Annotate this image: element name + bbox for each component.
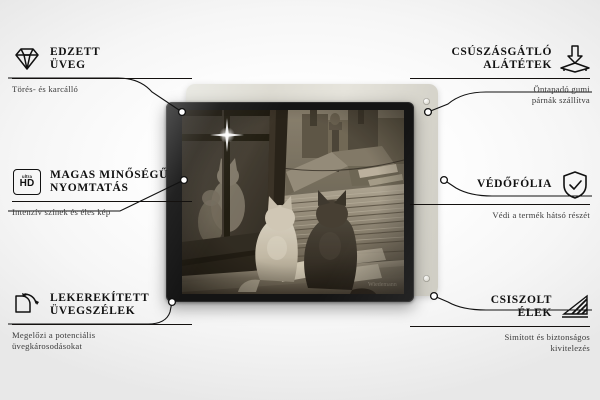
product-image: Wiedemann xyxy=(166,88,434,308)
rounded-corner-icon xyxy=(12,290,42,320)
diamond-icon xyxy=(12,44,42,74)
feature-title: CSISZOLT ÉLEK xyxy=(491,294,552,321)
hatched-triangle-icon xyxy=(560,292,590,322)
feature-subtitle: Simított és biztonságos kivitelezés xyxy=(410,332,590,354)
feature-polished-edges: CSISZOLT ÉLEK Simított és biztonságos ki… xyxy=(410,292,590,354)
divider xyxy=(410,204,590,205)
shield-check-icon xyxy=(560,170,590,200)
feature-anti-slip-pads: CSÚSZÁSGÁTLÓ ALÁTÉTEK Öntapadó gumi párn… xyxy=(410,44,590,106)
feature-tempered-glass: EDZETT ÜVEG Törés- és karcálló xyxy=(12,44,192,95)
ultra-hd-icon: ultra HD xyxy=(12,167,42,197)
feature-header: CSÚSZÁSGÁTLÓ ALÁTÉTEK xyxy=(410,44,590,74)
feature-subtitle: Intenzív színek és éles kép xyxy=(12,207,192,218)
feature-header: CSISZOLT ÉLEK xyxy=(410,292,590,322)
press-pad-icon xyxy=(560,44,590,74)
feature-subtitle: Megelőzi a potenciális üvegkárosodásokat xyxy=(12,330,192,352)
feature-title: VÉDŐFÓLIA xyxy=(477,178,552,192)
feature-subtitle: Öntapadó gumi párnák szállítva xyxy=(410,84,590,106)
feature-header: VÉDŐFÓLIA xyxy=(410,170,590,200)
mounting-hole xyxy=(423,275,430,282)
feature-rounded-glass-edges: LEKEREKÍTETT ÜVEGSZÉLEK Megelőzi a poten… xyxy=(12,290,192,352)
feature-title: CSÚSZÁSGÁTLÓ ALÁTÉTEK xyxy=(451,46,552,73)
feature-subtitle: Védi a termék hátsó részét xyxy=(410,210,590,221)
divider xyxy=(410,78,590,79)
feature-title: MAGAS MINŐSÉGŰ NYOMTATÁS xyxy=(50,169,168,196)
glass-board: Wiedemann xyxy=(166,102,414,302)
divider xyxy=(12,324,192,325)
feature-title: EDZETT ÜVEG xyxy=(50,46,100,73)
feature-header: ultra HD MAGAS MINŐSÉGŰ NYOMTATÁS xyxy=(12,167,192,197)
feature-title: LEKEREKÍTETT ÜVEGSZÉLEK xyxy=(50,292,149,319)
feature-high-quality-print: ultra HD MAGAS MINŐSÉGŰ NYOMTATÁS Intenz… xyxy=(12,167,192,218)
product-photo: Wiedemann xyxy=(182,110,404,294)
feature-protective-film: VÉDŐFÓLIA Védi a termék hátsó részét xyxy=(410,170,590,221)
feature-header: EDZETT ÜVEG xyxy=(12,44,192,74)
divider xyxy=(410,326,590,327)
divider xyxy=(12,78,192,79)
hd-badge-large: HD xyxy=(20,179,35,190)
hd-badge: ultra HD xyxy=(13,169,41,195)
feature-subtitle: Törés- és karcálló xyxy=(12,84,192,95)
divider xyxy=(12,201,192,202)
feature-header: LEKEREKÍTETT ÜVEGSZÉLEK xyxy=(12,290,192,320)
infographic-canvas: Wiedemann xyxy=(0,0,600,400)
